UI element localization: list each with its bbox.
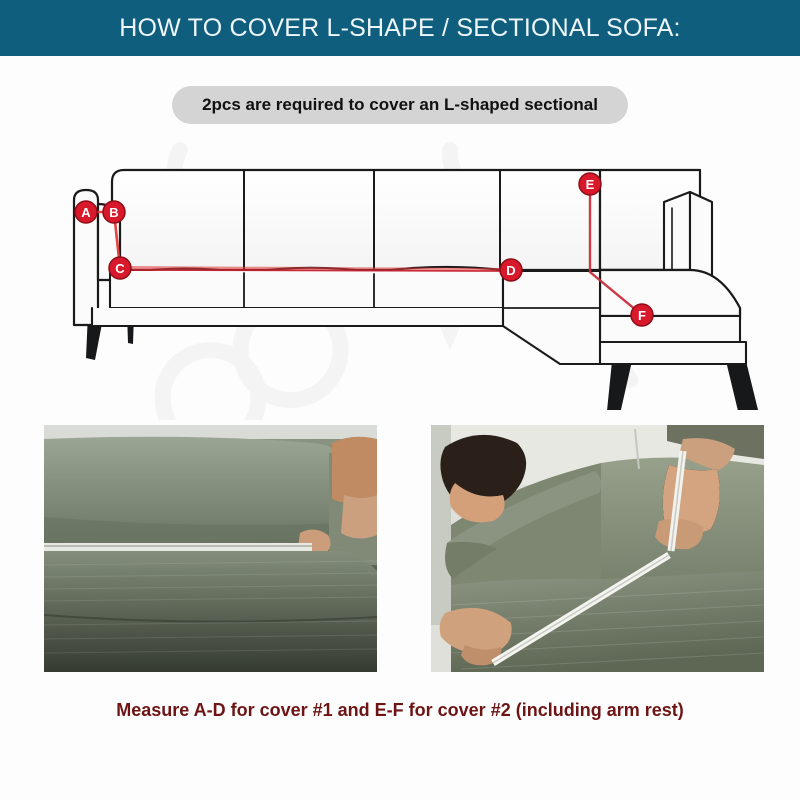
marker-D: D — [500, 259, 522, 281]
chaise-seat-front — [600, 316, 740, 342]
photo-left — [44, 425, 377, 672]
photo-right — [431, 425, 764, 672]
chaise-base — [598, 342, 746, 364]
chaise-side-wedge — [503, 271, 600, 364]
marker-E: E — [579, 173, 601, 195]
marker-C-label: C — [115, 261, 125, 276]
marker-A-label: A — [81, 205, 91, 220]
chaise-arm-rest-outer — [690, 192, 712, 280]
sofa-back-long — [112, 170, 600, 270]
chaise-arm-rest — [664, 192, 690, 280]
marker-B-label: B — [109, 205, 118, 220]
photo-row — [0, 425, 800, 672]
sofa-diagram: A B C D E F — [0, 130, 800, 410]
marker-B: B — [103, 201, 125, 223]
marker-C: C — [109, 257, 131, 279]
page-title: HOW TO COVER L-SHAPE / SECTIONAL SOFA: — [119, 14, 680, 43]
requirement-badge: 2pcs are required to cover an L-shaped s… — [172, 86, 628, 124]
badge-row: 2pcs are required to cover an L-shaped s… — [0, 86, 800, 124]
marker-E-label: E — [586, 177, 595, 192]
measurement-instruction: Measure A-D for cover #1 and E-F for cov… — [116, 700, 683, 721]
marker-D-label: D — [506, 263, 515, 278]
footer-row: Measure A-D for cover #1 and E-F for cov… — [0, 700, 800, 721]
marker-F: F — [631, 304, 653, 326]
chaise-seat-top2 — [600, 270, 740, 316]
header-band: HOW TO COVER L-SHAPE / SECTIONAL SOFA: — [0, 0, 800, 56]
marker-F-label: F — [638, 308, 646, 323]
infographic-page: HOW TO COVER L-SHAPE / SECTIONAL SOFA: 2… — [0, 0, 800, 800]
sofa-seat-front-long — [110, 271, 503, 308]
marker-A: A — [75, 201, 97, 223]
